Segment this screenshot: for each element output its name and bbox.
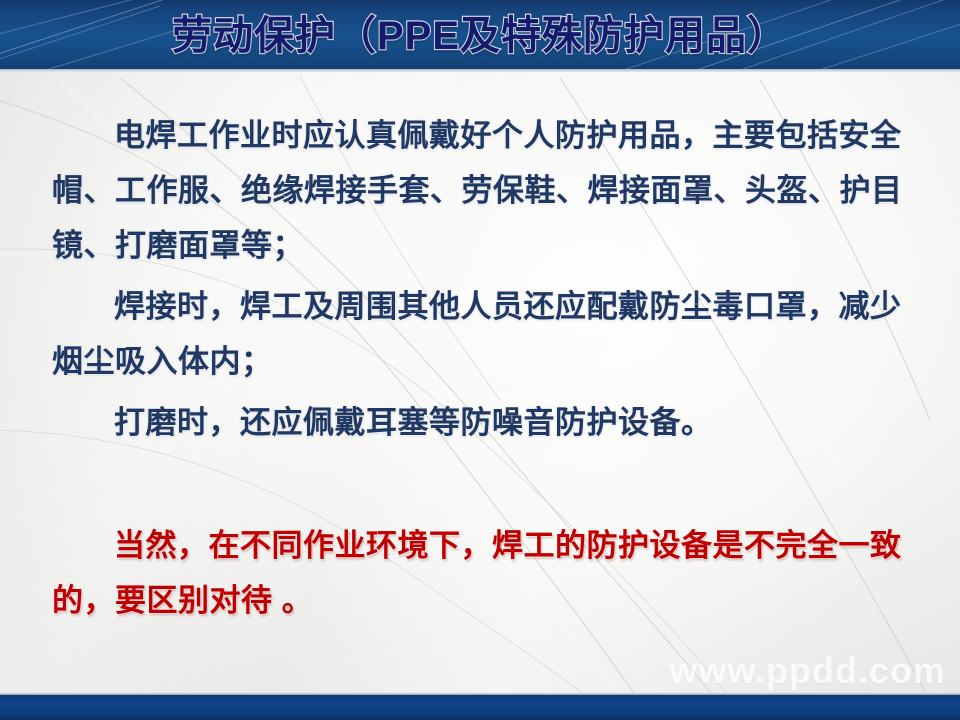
slide-title-bar: 劳动保护（PPE及特殊防护用品） (0, 0, 960, 72)
slide-canvas: 劳动保护（PPE及特殊防护用品） 电焊工作业时应认真佩戴好个人防护用品，主要包括… (0, 0, 960, 720)
paragraph-grinding-earplugs: 打磨时，还应佩戴耳塞等防噪音防护设备。 (52, 395, 922, 450)
paragraph-note-highlight: 当然，在不同作业环境下，焊工的防护设备是不完全一致的，要区别对待 。 (52, 518, 922, 628)
content-spacer (52, 450, 922, 518)
slide-content: 电焊工作业时应认真佩戴好个人防护用品，主要包括安全帽、工作服、绝缘焊接手套、劳保… (52, 108, 922, 628)
header-bottom-rule (0, 69, 960, 72)
site-watermark: www.ppdd.com (669, 650, 946, 692)
footer-bar (0, 695, 960, 720)
page-title: 劳动保护（PPE及特殊防护用品） (0, 8, 960, 64)
paragraph-welding-mask: 焊接时，焊工及周围其他人员还应配戴防尘毒口罩，减少烟尘吸入体内； (52, 279, 922, 389)
paragraph-ppe-list: 电焊工作业时应认真佩戴好个人防护用品，主要包括安全帽、工作服、绝缘焊接手套、劳保… (52, 108, 922, 273)
